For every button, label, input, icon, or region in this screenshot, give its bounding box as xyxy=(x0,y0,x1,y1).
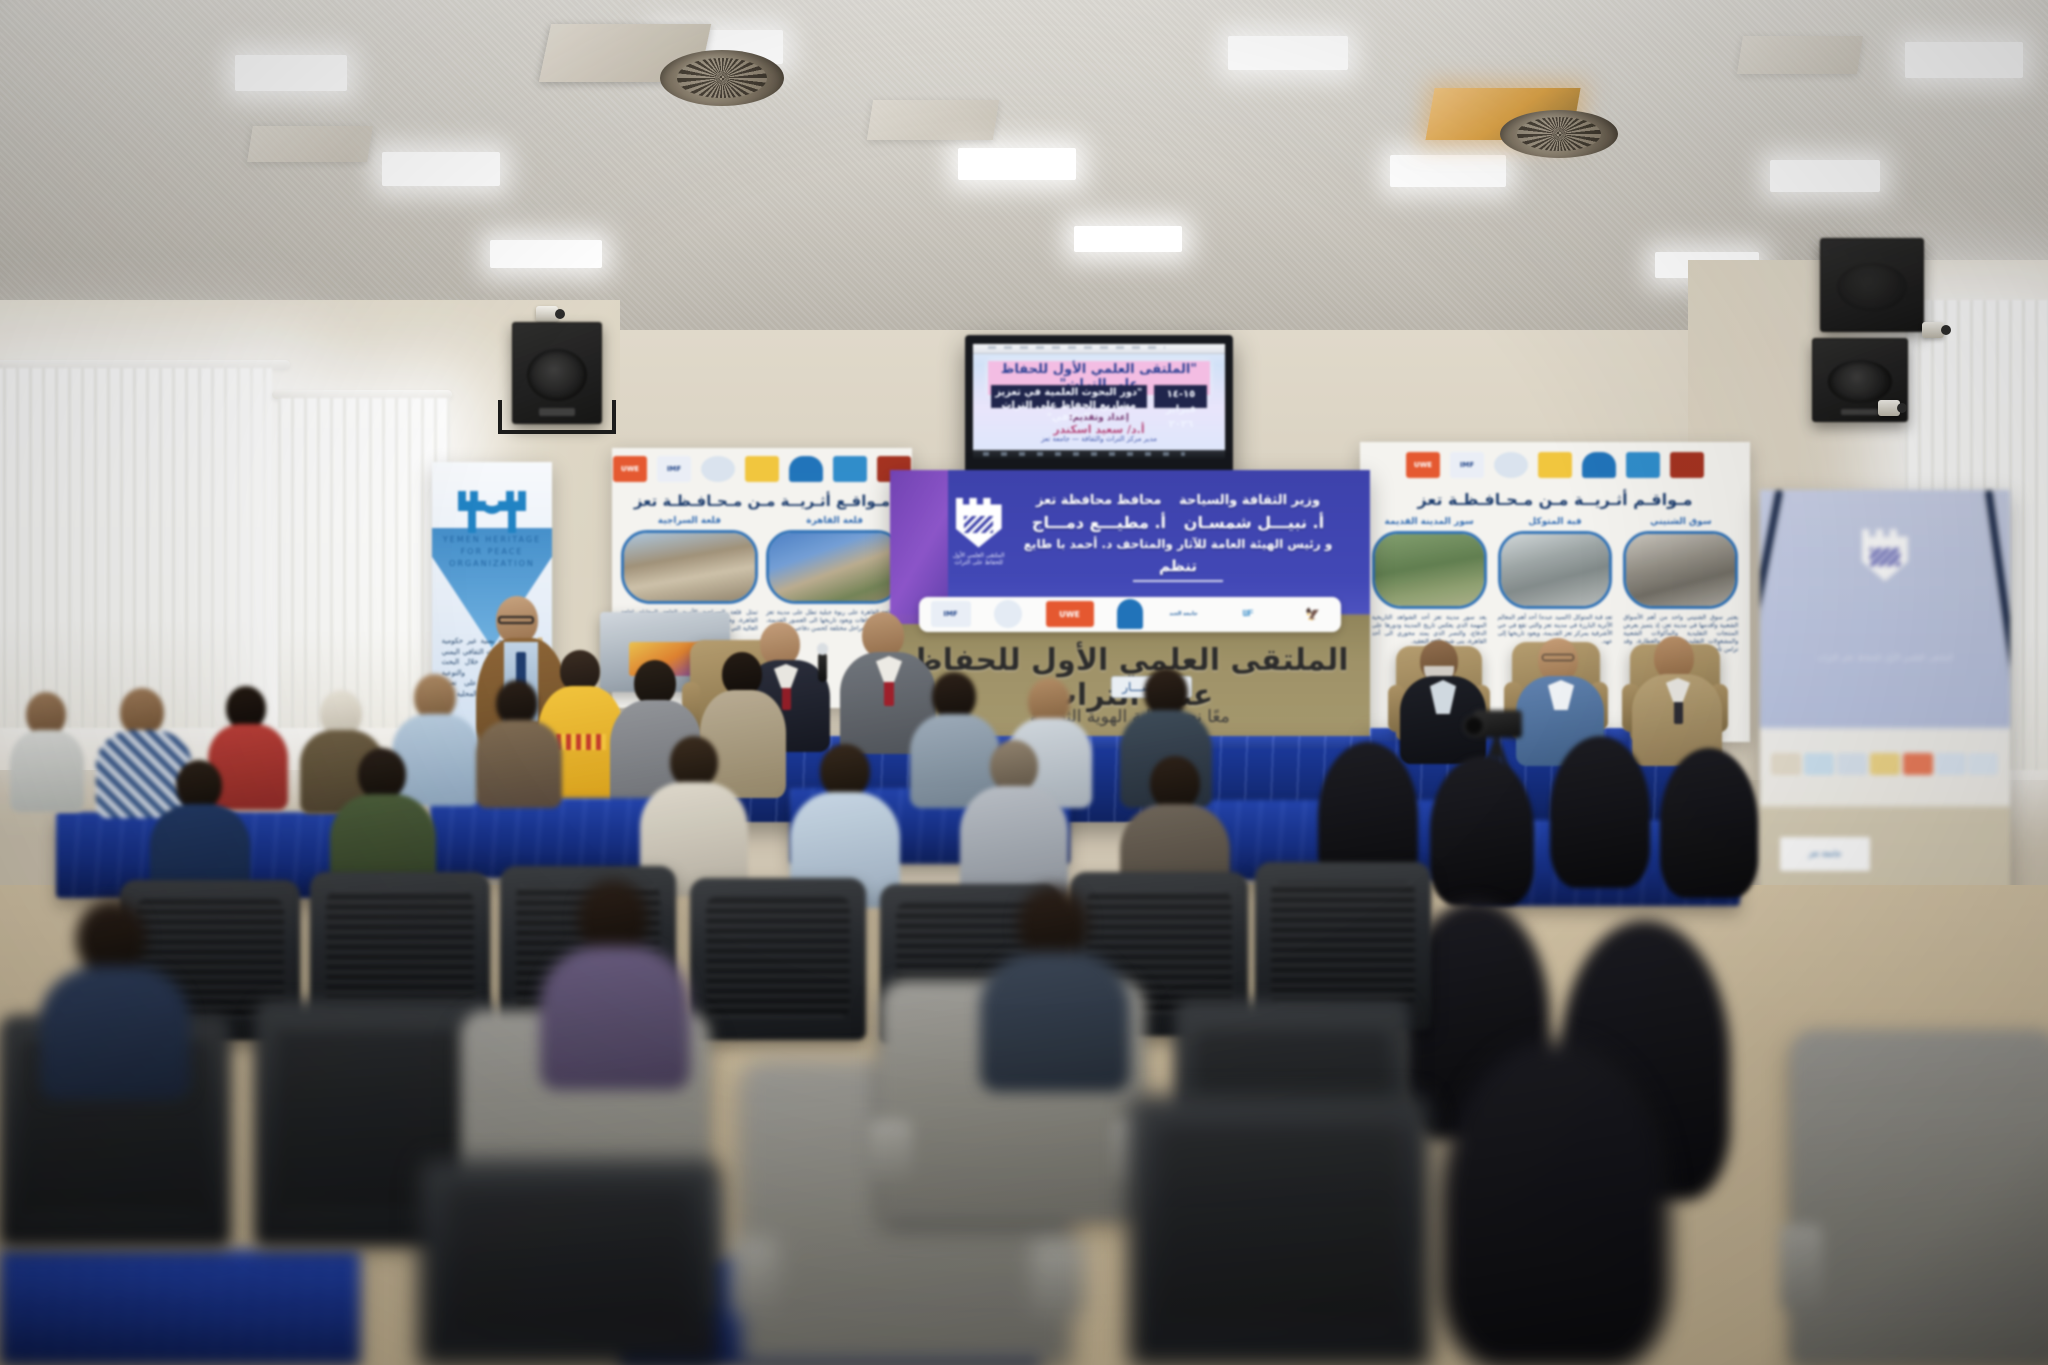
backdrop-officials-block: وزير الثقافة والسياحة محافظ محافظة تعز أ… xyxy=(1000,492,1355,582)
ceiling-panel-light xyxy=(235,55,347,91)
ceiling-air-vent xyxy=(247,126,373,162)
person-head xyxy=(176,760,222,810)
person-torso xyxy=(10,730,84,812)
audience-member xyxy=(10,692,84,812)
os-taskbar xyxy=(973,450,1225,459)
hijab xyxy=(1660,748,1758,898)
slide-prepared-by-label: إعداد وتقديم: xyxy=(993,413,1205,423)
backdrop-sponsor-strip: IMF UWE جامعة الجند ᗯᖴ 🦅 xyxy=(919,597,1341,633)
chair-armrest xyxy=(1031,1237,1084,1316)
ceiling-panel-light xyxy=(1770,160,1880,192)
cctv-camera xyxy=(1922,322,1944,338)
blue-arch-logo xyxy=(1117,599,1143,629)
person-torso xyxy=(476,720,562,808)
audience-table xyxy=(0,1250,360,1365)
audience-member-hijab xyxy=(1660,748,1758,898)
speaker-cone xyxy=(527,349,587,401)
audience-member-hijab xyxy=(1430,756,1534,906)
al-jund-university-logo xyxy=(745,456,779,482)
person-head xyxy=(820,744,870,798)
site-image-sarajiya xyxy=(624,533,755,601)
heritage-for-peace-logo xyxy=(1494,452,1528,478)
officials-role-row: وزير الثقافة والسياحة محافظ محافظة تعز xyxy=(1000,492,1355,511)
window-left xyxy=(0,368,272,728)
yemen-republic-emblem: 🦅 xyxy=(1295,601,1329,627)
official-third: و رئيس الهيئة العامة للآثار والمتاحف د. … xyxy=(1000,536,1355,553)
person-head xyxy=(76,900,146,976)
imf-csic-logo: IMF xyxy=(657,456,691,482)
site-photo xyxy=(1498,531,1613,609)
site-name: قلعة القاهرة xyxy=(806,516,863,526)
chair-armrest xyxy=(870,1119,912,1181)
audience-member xyxy=(980,886,1130,1092)
cctv-camera xyxy=(536,306,558,322)
chair-backrest-slats xyxy=(706,897,850,1017)
slide-subject-band: "دور البحوث العلمية في تعزيز مشاريع الحف… xyxy=(991,385,1147,408)
site-photo xyxy=(1623,531,1738,609)
ceiling-panel-light xyxy=(1074,226,1182,252)
ceiling-panel-light xyxy=(1228,36,1348,70)
ceiling-panel-light xyxy=(382,152,500,186)
speaker-tweeter xyxy=(1841,409,1879,416)
uwe-bristol-logo: UWE xyxy=(1406,452,1440,478)
person-head xyxy=(1150,756,1200,810)
poster-sponsor-logos: UWE IMF xyxy=(1360,442,1750,487)
yemen-heritage-icon xyxy=(444,483,540,541)
chair-backrest-slats xyxy=(447,1185,693,1337)
person-head xyxy=(1018,886,1088,962)
poster-sponsor-logos: UWE IMF xyxy=(612,448,912,490)
official-role-governor: محافظ محافظة تعز xyxy=(1036,492,1161,511)
person-torso xyxy=(980,952,1130,1092)
ceiling-panel-light xyxy=(1905,42,2023,78)
curtain-pleats xyxy=(0,368,272,728)
site-image-qubbat-al-mutawakkil xyxy=(1501,534,1610,606)
eyeglasses xyxy=(1542,654,1574,661)
audience-chair-mesh[interactable] xyxy=(690,878,866,1040)
person-head xyxy=(670,736,718,788)
audience-member-hijab xyxy=(1440,1040,1670,1365)
chair-backrest-slats xyxy=(326,892,474,1013)
uwe-bristol-logo: UWE xyxy=(1046,601,1094,627)
presentation-toolbar xyxy=(973,344,1225,354)
chair-armrest xyxy=(726,1237,779,1316)
blue-arch-logo xyxy=(1582,452,1616,478)
yemen-heritage-for-peace-logo xyxy=(444,483,540,541)
person-head xyxy=(578,880,648,956)
site-photo xyxy=(1372,531,1487,609)
garment-stripe xyxy=(556,734,606,750)
org-name-line1: YEMEN HERITAGE xyxy=(443,535,541,544)
site-photo xyxy=(766,530,903,604)
org-name-line2: FOR PEACE ORGANIZATION xyxy=(449,547,535,568)
official-role-minister: وزير الثقافة والسياحة xyxy=(1179,492,1320,511)
site-image-qahira xyxy=(769,533,900,601)
poster-left-heading: مـواقـع أثـريــة مـن مـحـافـظـة تعز xyxy=(612,492,912,510)
site-name: قلعة السراجية xyxy=(658,516,721,526)
ceiling-air-vent xyxy=(1737,36,1863,74)
chair-backrest-slats xyxy=(1157,1127,1403,1327)
slide-affiliation: مدير مركز التراث والثقافة — جامعة تعز xyxy=(993,435,1205,443)
person-head xyxy=(990,740,1038,792)
audience-member xyxy=(40,900,190,1100)
handheld-microphone xyxy=(818,652,827,682)
chair-backrest-slats xyxy=(1271,882,1415,1006)
audience-member xyxy=(476,680,562,808)
ceiling-fan xyxy=(1500,110,1618,158)
audience-member xyxy=(960,740,1068,902)
pa-speaker-right-upper xyxy=(1820,238,1924,332)
yemen-heritage-logo: ᗯᖴ xyxy=(1224,601,1272,627)
person-head xyxy=(358,748,406,800)
speaker-mount-bracket xyxy=(498,400,616,434)
poster-right-heading: مـواقـم أثـريــة مـن مـحـافـظـة تعز xyxy=(1360,490,1750,509)
site-name: سوق الشنيني xyxy=(1650,517,1711,527)
blue-arch-logo xyxy=(789,456,823,482)
audience-member xyxy=(540,880,690,1090)
person-torso xyxy=(40,966,190,1100)
site-image-old-city-wall xyxy=(1375,534,1484,606)
cctv-camera xyxy=(1878,400,1900,416)
person-head xyxy=(120,688,164,736)
slide-surface: "الملتقى العلمي الأول للحفاظ على التراث"… xyxy=(973,344,1225,459)
foreground-chair-mesh[interactable] xyxy=(420,1160,720,1365)
organize-label: تنظم xyxy=(1133,556,1223,582)
conference-hall-photo: "الملتقى العلمي الأول للحفاظ على التراث"… xyxy=(0,0,2048,1365)
hijab xyxy=(1430,756,1534,906)
castle-crest-icon xyxy=(956,498,1002,548)
ceiling-fan xyxy=(660,50,784,106)
ceiling-panel-light xyxy=(958,148,1076,180)
heritage-for-peace-logo xyxy=(994,600,1022,628)
ceiling-air-vent xyxy=(867,100,999,140)
site-name: سور المدينة القديمة xyxy=(1385,517,1474,527)
projection-screen: "الملتقى العلمي الأول للحفاظ على التراث"… xyxy=(965,335,1233,475)
audience-member-hijab xyxy=(1550,736,1650,888)
officials-name-row: أ. نبيـــل شمسـان أ. مطيـــع دمـــاج xyxy=(1000,511,1355,534)
rollup-org-name: YEMEN HERITAGE FOR PEACE ORGANIZATION xyxy=(432,534,552,570)
official-name-minister: أ. نبيـــل شمسـان xyxy=(1184,511,1324,534)
hijab xyxy=(1440,1040,1670,1365)
speaker-cone xyxy=(1828,360,1892,403)
slide-date: ١٥-١٤ فبراير ٢٠٢٦ xyxy=(1154,385,1207,408)
al-jund-university-logo: جامعة الجند xyxy=(1166,601,1200,627)
eyeglasses xyxy=(498,616,534,624)
uwe-bristol-logo: UWE xyxy=(613,456,647,482)
imf-csic-logo: IMF xyxy=(1450,452,1484,478)
imf-csic-logo: IMF xyxy=(931,601,971,627)
al-jund-university-logo xyxy=(1538,452,1572,478)
heritage-for-peace-logo xyxy=(701,456,735,482)
chair-armrest xyxy=(1780,1224,1823,1311)
person-torso xyxy=(540,946,690,1090)
site-name: قبة المتوكل xyxy=(1528,517,1581,527)
official-name-governor: أ. مطيـــع دمـــاج xyxy=(1032,511,1166,534)
speaker-cone xyxy=(1837,263,1906,311)
site-image-shanini-market xyxy=(1626,534,1735,606)
foreground-chair-mesh[interactable] xyxy=(1130,1095,1430,1365)
yemen-republic-emblem xyxy=(1670,452,1704,478)
video-camera xyxy=(1474,710,1522,738)
ceiling-panel-light xyxy=(490,240,602,268)
hijab xyxy=(1550,736,1650,888)
person-head xyxy=(1144,668,1188,716)
foreground-chair-grey[interactable] xyxy=(1790,1030,2048,1365)
yemen-heritage-logo xyxy=(1626,452,1660,478)
yemen-heritage-logo xyxy=(833,456,867,482)
ceiling-panel-light xyxy=(1390,155,1506,187)
person-head xyxy=(932,672,976,720)
site-photo xyxy=(621,530,758,604)
